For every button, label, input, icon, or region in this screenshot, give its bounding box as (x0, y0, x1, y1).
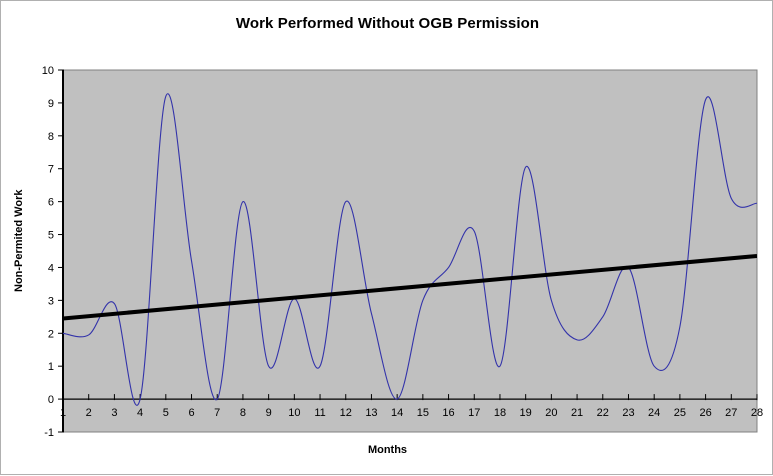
svg-text:8: 8 (48, 131, 54, 143)
svg-text:-1: -1 (44, 427, 54, 439)
svg-text:28: 28 (751, 407, 763, 419)
svg-text:18: 18 (494, 407, 506, 419)
svg-text:19: 19 (520, 407, 532, 419)
svg-text:3: 3 (111, 407, 117, 419)
svg-text:7: 7 (48, 164, 54, 176)
svg-text:12: 12 (340, 407, 352, 419)
svg-text:3: 3 (48, 295, 54, 307)
plot-background (63, 70, 757, 432)
svg-text:11: 11 (314, 407, 325, 419)
svg-text:7: 7 (214, 407, 220, 419)
svg-text:13: 13 (365, 407, 377, 419)
svg-text:20: 20 (545, 407, 557, 419)
svg-text:2: 2 (48, 328, 54, 340)
svg-text:15: 15 (417, 407, 429, 419)
svg-text:16: 16 (442, 407, 454, 419)
svg-text:8: 8 (240, 407, 246, 419)
svg-text:26: 26 (699, 407, 711, 419)
svg-text:24: 24 (648, 407, 660, 419)
svg-text:27: 27 (725, 407, 737, 419)
svg-text:0: 0 (48, 394, 54, 406)
svg-text:9: 9 (48, 98, 54, 110)
svg-text:17: 17 (468, 407, 480, 419)
svg-text:22: 22 (597, 407, 609, 419)
svg-text:2: 2 (86, 407, 92, 419)
svg-text:14: 14 (391, 407, 403, 419)
chart-container: Work Performed Without OGB Permission No… (0, 0, 773, 475)
svg-text:9: 9 (266, 407, 272, 419)
svg-text:6: 6 (188, 407, 194, 419)
svg-text:4: 4 (48, 262, 54, 274)
svg-text:21: 21 (571, 407, 583, 419)
y-axis-ticks: -1012345678910 (42, 65, 64, 439)
svg-text:5: 5 (48, 230, 54, 242)
svg-text:6: 6 (48, 197, 54, 209)
chart-plot: -1012345678910 1234567891011121314151617… (1, 1, 773, 476)
svg-text:5: 5 (163, 407, 169, 419)
svg-text:25: 25 (674, 407, 686, 419)
svg-text:1: 1 (48, 361, 54, 373)
svg-text:4: 4 (137, 407, 143, 419)
svg-text:23: 23 (622, 407, 634, 419)
svg-text:10: 10 (42, 65, 54, 77)
svg-text:10: 10 (288, 407, 300, 419)
